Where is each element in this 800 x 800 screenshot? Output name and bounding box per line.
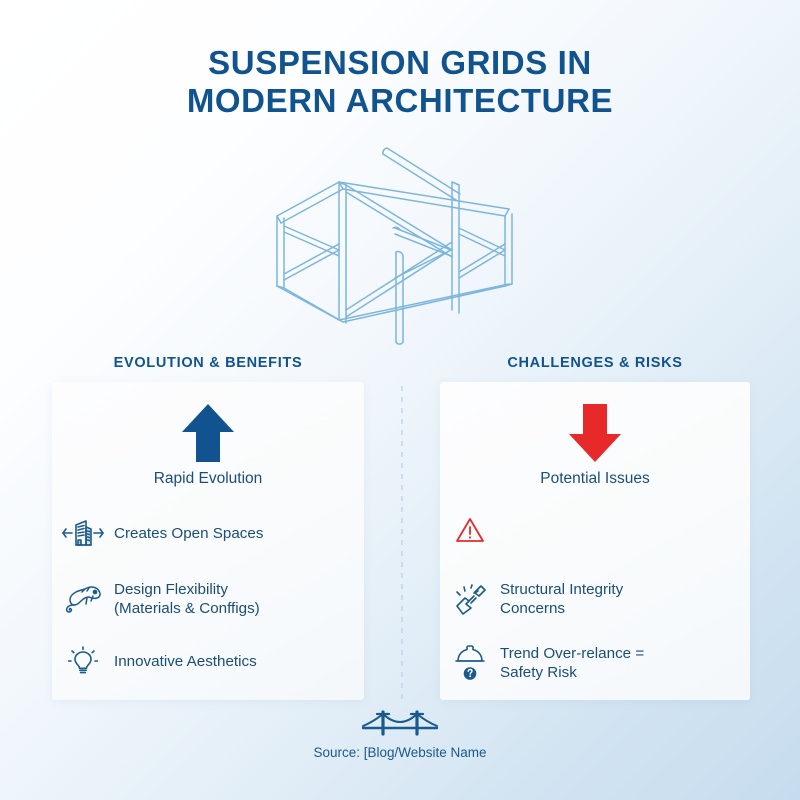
list-item-label-line1: Structural Integrity <box>500 581 623 598</box>
list-item-label-line2: (Materials & Conffigs) <box>114 600 260 617</box>
panel-evolution-benefits: Rapid Evolution Creates Open Space <box>52 382 364 700</box>
column-header-challenges: CHALLENGES & RISKS <box>440 355 750 371</box>
title-line-1: SUSPENSION GRIDS IN <box>208 44 592 81</box>
list-item: Design Flexibility (Materials & Conffigs… <box>52 576 364 622</box>
warning-triangle-icon <box>440 508 500 552</box>
panel-challenges-risks: Potential Issues <box>440 382 750 700</box>
arrow-down-icon <box>566 402 624 464</box>
list-item: Structural Integrity Concerns <box>440 576 750 622</box>
list-item-label-line1: Trend Over-relance = <box>500 645 644 662</box>
footer: Source: [Blog/Website Name <box>0 708 800 760</box>
list-item-label-line1: Design Flexibility <box>114 581 228 598</box>
list-item-label-line2: Safety Risk <box>500 664 577 681</box>
list-item-label: Structural Integrity Concerns <box>500 580 623 618</box>
list-item-label: Innovative Aesthetics <box>114 652 257 671</box>
title-line-2: MODERN ARCHITECTURE <box>0 82 800 120</box>
list-item: Creates Open Spaces <box>52 510 364 556</box>
column-header-evolution: EVOLUTION & BENEFITS <box>52 355 364 371</box>
source-label: Source: [Blog/Website Name <box>0 745 800 760</box>
lightbulb-icon <box>52 639 114 683</box>
infographic-page: SUSPENSION GRIDS IN MODERN ARCHITECTURE <box>0 0 800 800</box>
cracked-beam-icon <box>440 577 500 621</box>
vertical-dotted-divider <box>401 386 403 702</box>
suspension-bridge-icon <box>0 708 800 743</box>
list-item-label: Creates Open Spaces <box>114 524 263 543</box>
list-item-label: Design Flexibility (Materials & Conffigs… <box>114 580 260 618</box>
list-item <box>440 508 750 552</box>
hardhat-question-icon <box>440 641 500 685</box>
benefit-list: Creates Open Spaces Design Flexibil <box>52 508 364 684</box>
chameleon-icon <box>52 577 114 621</box>
lead-label-potential-issues: Potential Issues <box>440 470 750 488</box>
list-item-label: Trend Over-relance = Safety Risk <box>500 644 644 682</box>
isometric-suspension-grid-illustration <box>255 138 555 353</box>
list-item: Trend Over-relance = Safety Risk <box>440 640 750 686</box>
list-item: Innovative Aesthetics <box>52 638 364 684</box>
list-item-label-line2: Concerns <box>500 600 565 617</box>
page-title: SUSPENSION GRIDS IN MODERN ARCHITECTURE <box>0 44 800 120</box>
risk-list: Structural Integrity Concerns Trend Over… <box>440 508 750 686</box>
lead-label-rapid-evolution: Rapid Evolution <box>52 470 364 488</box>
building-expand-icon <box>52 511 114 555</box>
arrow-up-icon <box>179 402 237 464</box>
